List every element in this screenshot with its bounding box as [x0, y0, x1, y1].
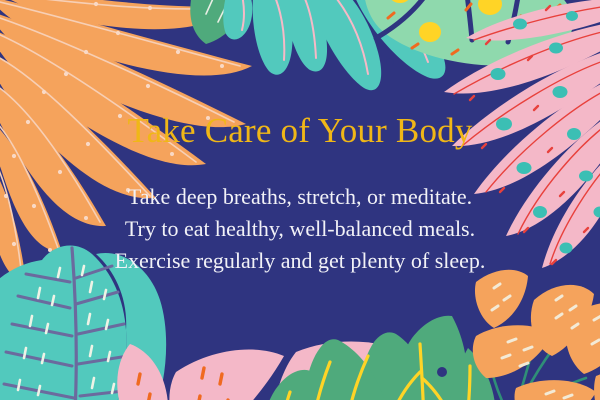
poster-canvas: Take Care of Your Body Take deep breaths… [0, 0, 600, 400]
decorative-foliage-artwork [0, 0, 600, 400]
